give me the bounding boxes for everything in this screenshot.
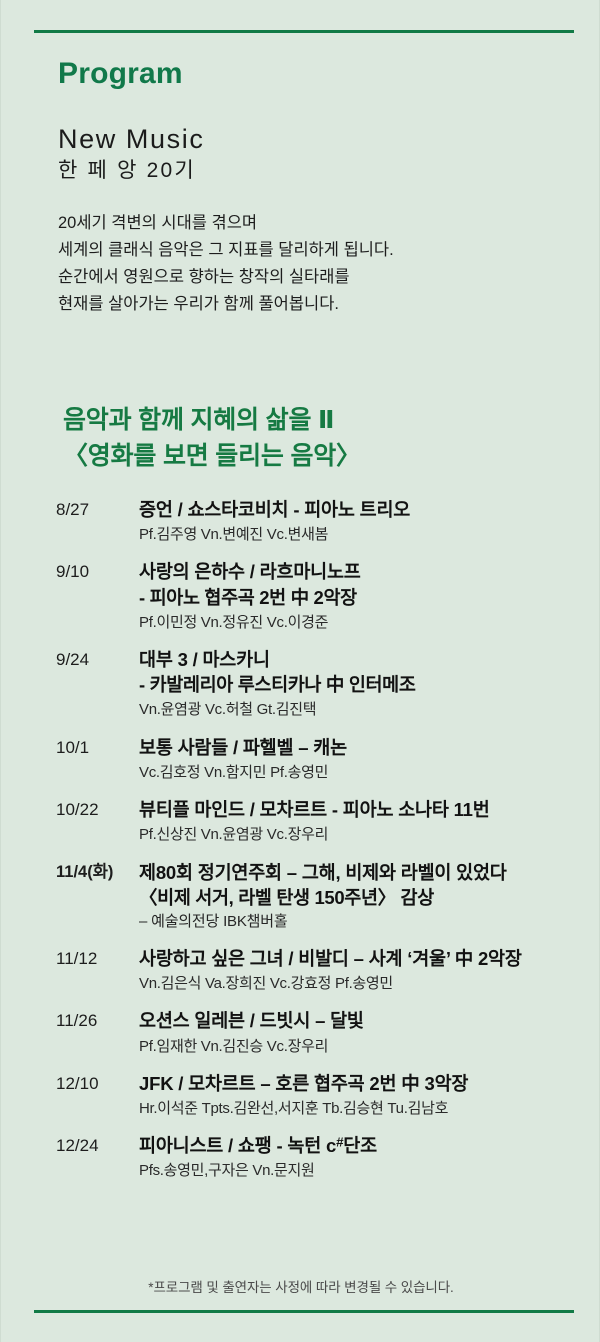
- program-entry: 12/24 피아니스트 / 쇼팽 - 녹턴 c#단조 Pfs.송영민,구자은 V…: [56, 1133, 591, 1181]
- entry-title-tail: 단조: [343, 1135, 377, 1156]
- entry-body: 대부 3 / 마스카니 - 카발레리아 루스티카나 中 인터메조 Vn.윤염광 …: [139, 647, 591, 721]
- series-heading-line2: 〈영화를 보면 들리는 음악〉: [63, 439, 361, 475]
- program-list: 8/27 증언 / 쇼스타코비치 - 피아노 트리오 Pf.김주영 Vn.변예진…: [56, 497, 591, 1196]
- program-entry: 12/10 JFK / 모차르트 – 호른 협주곡 2번 中 3악장 Hr.이석…: [56, 1071, 591, 1119]
- ensemble-subtitle: New Music 한 페 앙 20기: [58, 124, 558, 184]
- entry-performers: Pf.임재한 Vn.김진승 Vc.장우리: [139, 1036, 591, 1057]
- program-entry: 9/24 대부 3 / 마스카니 - 카발레리아 루스티카나 中 인터메조 Vn…: [56, 647, 591, 721]
- entry-date: 9/24: [56, 647, 139, 673]
- program-entry: 9/10 사랑의 은하수 / 라흐마니노프 - 피아노 협주곡 2번 中 2악장…: [56, 559, 591, 633]
- entry-date: 12/10: [56, 1071, 139, 1097]
- program-entry: 11/12 사랑하고 싶은 그녀 / 비발디 – 사계 ‘겨울’ 中 2악장 V…: [56, 946, 591, 994]
- entry-performers: Vn.윤염광 Vc.허철 Gt.김진택: [139, 699, 591, 720]
- entry-date: 9/10: [56, 559, 139, 585]
- entry-title-cont: - 카발레리아 루스티카나 中 인터메조: [139, 672, 591, 697]
- intro-paragraph: 20세기 격변의 시대를 겪으며 세계의 클래식 음악은 그 지표를 달리하게 …: [58, 210, 558, 317]
- entry-date: 11/12: [56, 946, 139, 972]
- entry-title: 뷰티플 마인드 / 모차르트 - 피아노 소나타 11번: [139, 797, 591, 822]
- entry-performers: Pfs.송영민,구자은 Vn.문지원: [139, 1160, 591, 1181]
- entry-performers: Pf.이민정 Vn.정유진 Vc.이경준: [139, 612, 591, 633]
- entry-date: 11/4(화): [56, 860, 139, 885]
- entry-body: 증언 / 쇼스타코비치 - 피아노 트리오 Pf.김주영 Vn.변예진 Vc.변…: [139, 497, 591, 545]
- program-entry: 8/27 증언 / 쇼스타코비치 - 피아노 트리오 Pf.김주영 Vn.변예진…: [56, 497, 591, 545]
- entry-performers: Vc.김호정 Vn.함지민 Pf.송영민: [139, 762, 591, 783]
- entry-title: 피아니스트 / 쇼팽 - 녹턴 c#단조: [139, 1133, 591, 1158]
- intro-line: 세계의 클래식 음악은 그 지표를 달리하게 됩니다.: [58, 237, 558, 264]
- series-heading-line1: 음악과 함께 지혜의 삶을 Ⅱ: [63, 403, 361, 439]
- ensemble-name-en: New Music: [58, 124, 558, 155]
- entry-date: 10/1: [56, 735, 139, 761]
- entry-title: 오션스 일레븐 / 드빗시 – 달빛: [139, 1008, 591, 1033]
- page-title: Program: [58, 57, 558, 90]
- entry-performers: Hr.이석준 Tpts.김완선,서지훈 Tb.김승현 Tu.김남호: [139, 1098, 591, 1119]
- ensemble-name-ko: 한 페 앙 20기: [58, 157, 558, 184]
- entry-title-head: 피아니스트 / 쇼팽 - 녹턴 c: [139, 1135, 336, 1156]
- top-divider-rule: [34, 30, 574, 33]
- entry-body: 사랑의 은하수 / 라흐마니노프 - 피아노 협주곡 2번 中 2악장 Pf.이…: [139, 559, 591, 633]
- entry-body: JFK / 모차르트 – 호른 협주곡 2번 中 3악장 Hr.이석준 Tpts…: [139, 1071, 591, 1119]
- program-entry: 11/26 오션스 일레븐 / 드빗시 – 달빛 Pf.임재한 Vn.김진승 V…: [56, 1008, 591, 1056]
- entry-body: 사랑하고 싶은 그녀 / 비발디 – 사계 ‘겨울’ 中 2악장 Vn.김은식 …: [139, 946, 591, 994]
- entry-body: 제80회 정기연주회 – 그해, 비제와 라벨이 있었다 〈비제 서거, 라벨 …: [139, 860, 591, 932]
- entry-performers: Pf.김주영 Vn.변예진 Vc.변새봄: [139, 524, 591, 545]
- program-entry: 10/22 뷰티플 마인드 / 모차르트 - 피아노 소나타 11번 Pf.신상…: [56, 797, 591, 845]
- entry-date: 11/26: [56, 1008, 139, 1034]
- entry-venue: – 예술의전당 IBK챔버홀: [139, 911, 591, 932]
- entry-date: 10/22: [56, 797, 139, 823]
- entry-title: 사랑의 은하수 / 라흐마니노프: [139, 559, 591, 584]
- program-entry: 11/4(화) 제80회 정기연주회 – 그해, 비제와 라벨이 있었다 〈비제…: [56, 860, 591, 932]
- entry-title: 증언 / 쇼스타코비치 - 피아노 트리오: [139, 497, 591, 522]
- footnote-disclaimer: *프로그램 및 출연자는 사정에 따라 변경될 수 있습니다.: [1, 1276, 600, 1296]
- intro-line: 20세기 격변의 시대를 겪으며: [58, 210, 558, 237]
- entry-date: 8/27: [56, 497, 139, 523]
- series-heading: 음악과 함께 지혜의 삶을 Ⅱ 〈영화를 보면 들리는 음악〉: [63, 403, 361, 474]
- entry-title: 대부 3 / 마스카니: [139, 647, 591, 672]
- entry-performers: Vn.김은식 Va.장희진 Vc.강효정 Pf.송영민: [139, 973, 591, 994]
- entry-title: JFK / 모차르트 – 호른 협주곡 2번 中 3악장: [139, 1071, 591, 1096]
- poster-header: Program New Music 한 페 앙 20기 20세기 격변의 시대를…: [58, 57, 558, 317]
- entry-title-cont: 〈비제 서거, 라벨 탄생 150주년〉 감상: [139, 885, 591, 910]
- entry-body: 보통 사람들 / 파헬벨 – 캐논 Vc.김호정 Vn.함지민 Pf.송영민: [139, 735, 591, 783]
- program-poster: Program New Music 한 페 앙 20기 20세기 격변의 시대를…: [1, 0, 600, 1342]
- entry-date: 12/24: [56, 1133, 139, 1159]
- entry-title: 사랑하고 싶은 그녀 / 비발디 – 사계 ‘겨울’ 中 2악장: [139, 946, 591, 971]
- entry-body: 오션스 일레븐 / 드빗시 – 달빛 Pf.임재한 Vn.김진승 Vc.장우리: [139, 1008, 591, 1056]
- entry-body: 뷰티플 마인드 / 모차르트 - 피아노 소나타 11번 Pf.신상진 Vn.윤…: [139, 797, 591, 845]
- entry-title: 보통 사람들 / 파헬벨 – 캐논: [139, 735, 591, 760]
- entry-performers: Pf.신상진 Vn.윤염광 Vc.장우리: [139, 824, 591, 845]
- intro-line: 순간에서 영원으로 향하는 창작의 실타래를: [58, 264, 558, 291]
- bottom-divider-rule: [34, 1310, 574, 1313]
- program-entry: 10/1 보통 사람들 / 파헬벨 – 캐논 Vc.김호정 Vn.함지민 Pf.…: [56, 735, 591, 783]
- entry-body: 피아니스트 / 쇼팽 - 녹턴 c#단조 Pfs.송영민,구자은 Vn.문지원: [139, 1133, 591, 1181]
- entry-title-cont: - 피아노 협주곡 2번 中 2악장: [139, 585, 591, 610]
- intro-line: 현재를 살아가는 우리가 함께 풀어봅니다.: [58, 291, 558, 318]
- entry-title: 제80회 정기연주회 – 그해, 비제와 라벨이 있었다: [139, 860, 591, 885]
